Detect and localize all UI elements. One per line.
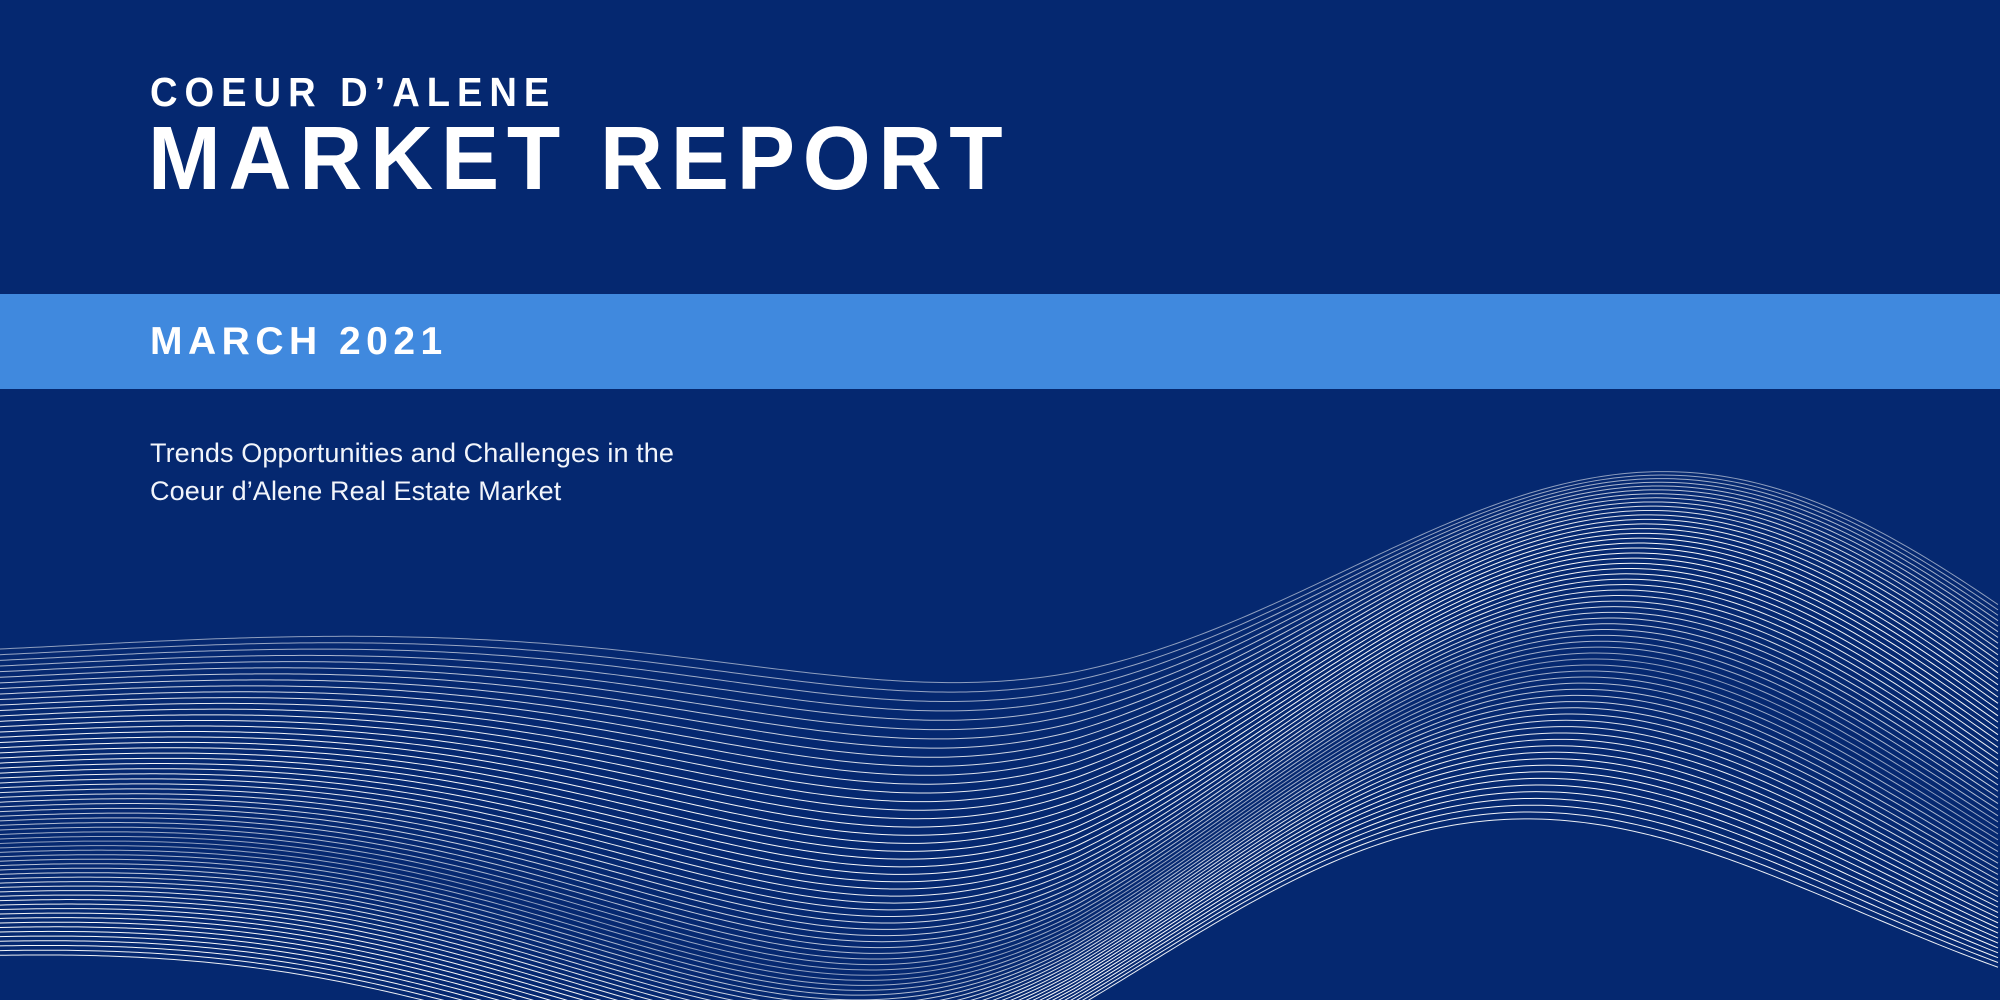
report-date-label: MARCH 2021 <box>150 322 448 361</box>
subtitle-line-1: Trends Opportunities and Challenges in t… <box>150 434 674 472</box>
page-title: MARKET REPORT <box>148 114 1010 204</box>
subtitle: Trends Opportunities and Challenges in t… <box>150 434 674 511</box>
eyebrow-location-label: COEUR D’ALENE <box>150 72 556 113</box>
date-band: MARCH 2021 <box>0 294 2000 389</box>
report-cover: COEUR D’ALENE MARKET REPORT MARCH 2021 T… <box>0 0 2000 1000</box>
subtitle-line-2: Coeur d’Alene Real Estate Market <box>150 472 674 510</box>
